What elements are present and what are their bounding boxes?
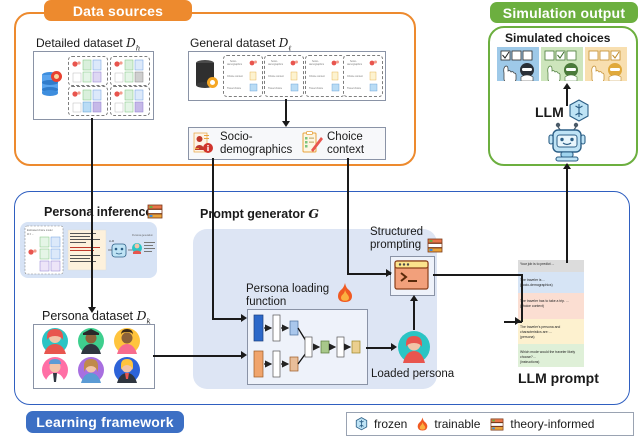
arrow-persona-dataset-to-network	[241, 351, 247, 359]
svg-text:demographics: demographics	[309, 63, 325, 66]
connector-prompting-to-llm-prompt-drop	[521, 274, 523, 322]
llm-label: LLM	[535, 104, 564, 120]
connector-persona-dataset-to-network	[153, 355, 243, 357]
llm-prompt-block: The traveler's persona and characteristi…	[518, 319, 584, 344]
database-icon-detailed	[40, 72, 62, 98]
general-dataset-text: General dataset	[190, 36, 279, 50]
llm-prompt-block: The traveler is ... (socio-demographics)	[518, 272, 584, 293]
loading-line1: Persona loading	[246, 283, 329, 295]
theory-informed-books-icon	[147, 204, 163, 219]
llm-prompt-block: The traveler has to take a trip. ... (ch…	[518, 293, 584, 319]
prompt-generator-label: Prompt generator G	[200, 206, 319, 221]
general-dataset-symbol: D	[279, 36, 289, 50]
general-record-glyphs: Socio- demographics Choice context Trave…	[223, 55, 381, 95]
loading-line2: function	[246, 296, 286, 308]
connector-llm-prompt-to-robot	[566, 168, 568, 263]
arrow-choice-context-into-terminal	[386, 269, 392, 277]
robot-icon	[548, 121, 586, 163]
choice-context-label: Choice context	[327, 131, 364, 157]
persona-loading-function-label: Persona loading function	[246, 283, 329, 309]
persona-dataset-label: Persona dataset Dk	[42, 308, 151, 326]
socio-demographics-label: Socio- demographics	[220, 131, 292, 157]
prompt-generator-symbol: G	[308, 206, 319, 221]
clipboard-checklist-icon	[302, 131, 323, 154]
connector-choice-context-horizontal	[347, 273, 391, 275]
frozen-cube-icon	[355, 417, 368, 431]
data-sources-badge: Data sources	[44, 0, 192, 21]
connector-loaded-persona-to-prompting	[413, 300, 415, 330]
connector-general-to-attributes	[285, 99, 287, 123]
svg-text:Persona generation: Persona generation	[132, 234, 154, 237]
theory-informed-books-icon	[427, 238, 443, 253]
structured-prompting-label: Structured prompting	[370, 226, 423, 252]
connector-prompting-to-llm-prompt	[433, 274, 523, 276]
prompt-block-text: The traveler has to take a trip. ... (ch…	[520, 299, 569, 308]
persona-avatars	[36, 326, 150, 385]
svg-text:Choice context: Choice context	[268, 75, 284, 78]
svg-text:Choice context: Choice context	[227, 75, 243, 78]
connector-network-to-loaded-persona	[366, 347, 393, 349]
frozen-cube-icon	[568, 99, 590, 123]
simulation-output-badge: Simulation output	[490, 2, 638, 23]
llm-prompt-block: Your job is to predict ...	[518, 260, 584, 272]
persona-dataset-symbol: D	[137, 308, 147, 323]
socio-line2: demographics	[220, 144, 292, 156]
svg-text:Estimated choice model: Estimated choice model	[27, 229, 53, 232]
arrow-into-llm-prompt	[515, 317, 521, 325]
arrow-socio-into-network	[241, 314, 247, 322]
svg-text:Travel choice: Travel choice	[227, 87, 242, 90]
prompt-block-text: The traveler is ... (socio-demographics)	[520, 278, 553, 287]
svg-text:Travel choice: Travel choice	[268, 87, 283, 90]
simulated-choices-title: Simulated choices	[505, 31, 610, 45]
trainable-flame-icon	[417, 417, 428, 431]
loaded-persona-label: Loaded persona	[371, 368, 454, 380]
learning-framework-badge-label: Learning framework	[36, 414, 173, 430]
record-card-glyphs	[68, 56, 150, 114]
connector-detailed-to-persona-inference	[91, 118, 93, 310]
llm-prompt-block: Which mode would the traveler likely cho…	[518, 344, 584, 367]
trainable-flame-icon	[337, 283, 353, 302]
svg-text:Choice context: Choice context	[309, 75, 325, 78]
choice-line2: context	[327, 144, 364, 156]
arrow-robot-to-choices	[563, 83, 571, 89]
svg-text:U = ...: U = ...	[27, 232, 34, 236]
persona-loading-network-diagram	[251, 313, 363, 379]
choice-line1: Choice	[327, 131, 363, 143]
structured-line2: prompting	[370, 239, 421, 251]
theory-informed-books-icon	[490, 418, 504, 431]
arrow-loaded-persona-to-prompting	[410, 295, 418, 301]
svg-text:demographics: demographics	[227, 63, 243, 66]
general-dataset-label: General dataset Dℓ	[190, 36, 291, 52]
learning-framework-badge: Learning framework	[26, 411, 184, 433]
socio-line1: Socio-	[220, 131, 253, 143]
legend-label-frozen: frozen	[374, 417, 407, 431]
persona-inference-label: Persona inference	[44, 205, 152, 219]
svg-text:demographics: demographics	[347, 63, 363, 66]
arrow-llm-prompt-to-robot	[563, 163, 571, 169]
legend-label-trainable: trainable	[434, 417, 480, 431]
person-id-icon	[193, 131, 215, 154]
detailed-dataset-label: Detailed dataset Dh	[36, 36, 140, 52]
svg-text:Travel choice: Travel choice	[347, 87, 362, 90]
simulated-choices-panels	[497, 47, 627, 81]
connector-socio-horizontal	[212, 318, 242, 320]
persona-inference-illustration: Estimated choice model U = ... LLM Perso…	[20, 222, 157, 278]
prompt-block-text: Your job is to predict ...	[520, 262, 554, 266]
data-sources-badge-label: Data sources	[73, 3, 163, 19]
legend-label-theory-informed: theory-informed	[510, 417, 594, 431]
prompt-block-text: The traveler's persona and characteristi…	[520, 325, 560, 339]
svg-text:LLM: LLM	[109, 239, 114, 243]
prompt-block-text: Which mode would the traveler likely cho…	[520, 350, 575, 364]
svg-text:Travel choice: Travel choice	[309, 87, 324, 90]
legend: frozen trainable theory-informed	[346, 412, 634, 436]
llm-prompt-title: LLM prompt	[518, 370, 599, 386]
detailed-dataset-symbol: D	[126, 36, 136, 50]
arrow-detailed-to-persona-dataset	[88, 307, 96, 313]
persona-inference-text: Persona inference	[44, 205, 152, 219]
arrow-network-to-loaded-persona	[391, 343, 397, 351]
connector-socio-to-prompt-generator	[212, 158, 214, 318]
terminal-window-icon	[394, 260, 429, 290]
svg-text:Choice context: Choice context	[347, 75, 363, 78]
connector-choice-context-down	[347, 158, 349, 273]
svg-text:demographics: demographics	[268, 63, 284, 66]
structured-line1: Structured	[370, 226, 423, 238]
simulation-output-badge-label: Simulation output	[503, 5, 625, 21]
prompt-generator-text: Prompt generator	[200, 207, 308, 221]
database-icon-general	[194, 60, 220, 90]
llm-prompt-stack: Your job is to predict ... The traveler …	[518, 260, 584, 367]
persona-avatar-icon	[397, 330, 431, 364]
detailed-dataset-text: Detailed dataset	[36, 36, 126, 50]
